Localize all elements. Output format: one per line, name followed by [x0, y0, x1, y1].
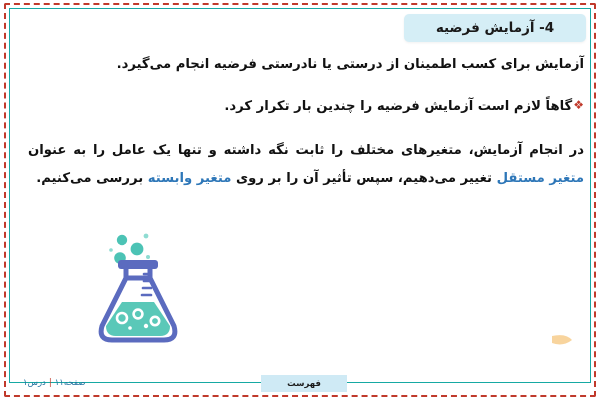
- slide-page: 4- آزمایش فرضیه آزمایش برای کسب اطمینان …: [0, 0, 600, 400]
- paragraph-1: آزمایش برای کسب اطمینان از درستی یا نادر…: [28, 52, 584, 78]
- bubble-icon: [144, 234, 149, 239]
- bubble-icon: [117, 235, 127, 245]
- watermark: [434, 326, 584, 372]
- page-title: 4- آزمایش فرضیه: [436, 20, 554, 36]
- lesson-label: درس۱: [23, 378, 46, 388]
- paragraph-3: در انجام آزمایش، متغیرهای مختلف را ثابت …: [28, 137, 584, 191]
- flask-mouth: [118, 260, 158, 269]
- paragraph-2-text: گاهاً لازم است آزمایش فرضیه را چندین بار…: [224, 99, 572, 114]
- toc-button-label: فهرست: [287, 379, 321, 389]
- liquid-bubble-icon: [128, 326, 132, 330]
- toc-button[interactable]: فهرست: [261, 375, 347, 392]
- bubble-icon: [146, 255, 150, 259]
- content-body: آزمایش برای کسب اطمینان از درستی یا نادر…: [28, 52, 584, 202]
- diamond-bullet-icon: ❖: [573, 98, 584, 112]
- term-independent-variable: متغیر مستقل: [497, 171, 584, 186]
- bottom-bar: صفحه۱۱|درس۱ فهرست: [9, 377, 591, 395]
- bubble-icon: [131, 243, 144, 256]
- term-dependent-variable: متغیر وابسته: [148, 171, 232, 186]
- bubble-icon: [109, 248, 113, 252]
- paragraph-3-segment-b: تغییر می‌دهیم، سپس تأثیر آن را بر روی: [231, 171, 496, 186]
- page-info-separator: |: [49, 378, 52, 388]
- flask-illustration: [78, 222, 198, 354]
- paragraph-3-segment-c: بررسی می‌کنیم.: [36, 171, 148, 186]
- watermark-accent: [552, 335, 572, 344]
- paragraph-3-segment-a: در انجام آزمایش، متغیرهای مختلف را ثابت …: [28, 143, 584, 158]
- paragraph-2: ❖گاهاً لازم است آزمایش فرضیه را چندین با…: [28, 94, 584, 120]
- liquid-bubble-icon: [144, 324, 148, 328]
- page-title-box: 4- آزمایش فرضیه: [404, 14, 586, 42]
- page-number-label: صفحه۱۱: [55, 378, 86, 388]
- watermark-logo-icon: [434, 326, 584, 372]
- page-info: صفحه۱۱|درس۱: [23, 378, 85, 388]
- flask-icon: [78, 222, 198, 354]
